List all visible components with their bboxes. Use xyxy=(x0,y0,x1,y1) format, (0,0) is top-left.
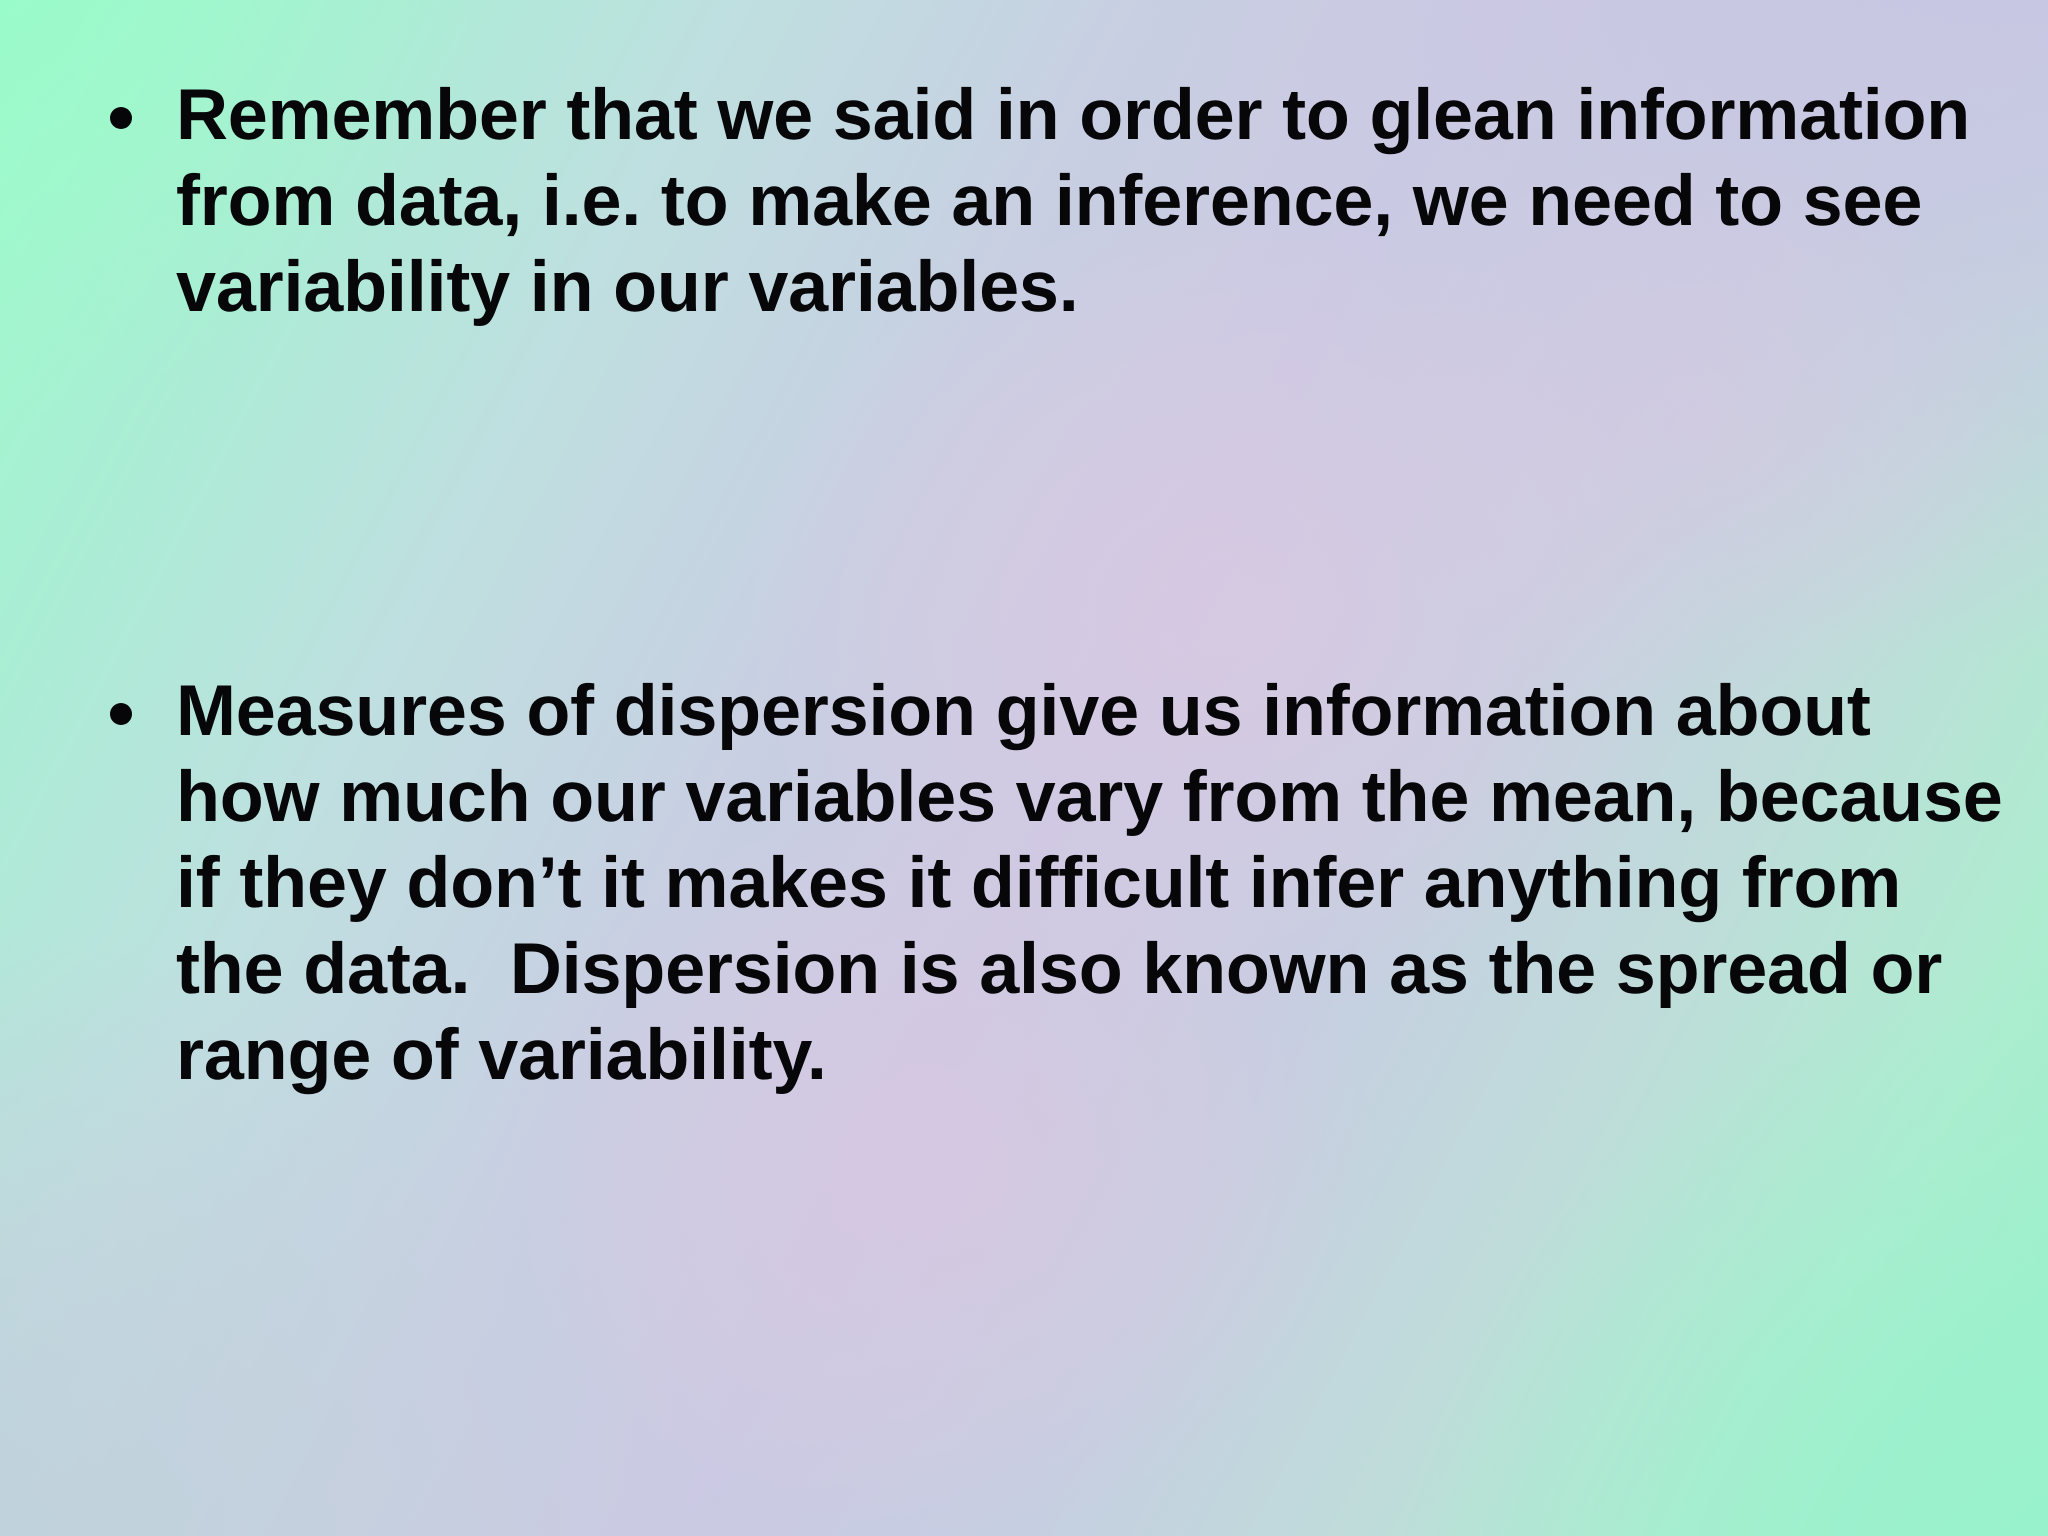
bullet-point-icon xyxy=(110,703,132,725)
slide-content-body: Remember that we said in order to glean … xyxy=(0,0,2048,1536)
bullet-item-2-text: Measures of dispersion give us informati… xyxy=(176,668,2010,1098)
bullet-item-2: Measures of dispersion give us informati… xyxy=(110,668,2010,1098)
bullet-item-1-text: Remember that we said in order to glean … xyxy=(176,72,2010,330)
bullet-item-1: Remember that we said in order to glean … xyxy=(110,72,2010,330)
presentation-slide: Remember that we said in order to glean … xyxy=(0,0,2048,1536)
bullet-point-icon xyxy=(110,107,132,129)
